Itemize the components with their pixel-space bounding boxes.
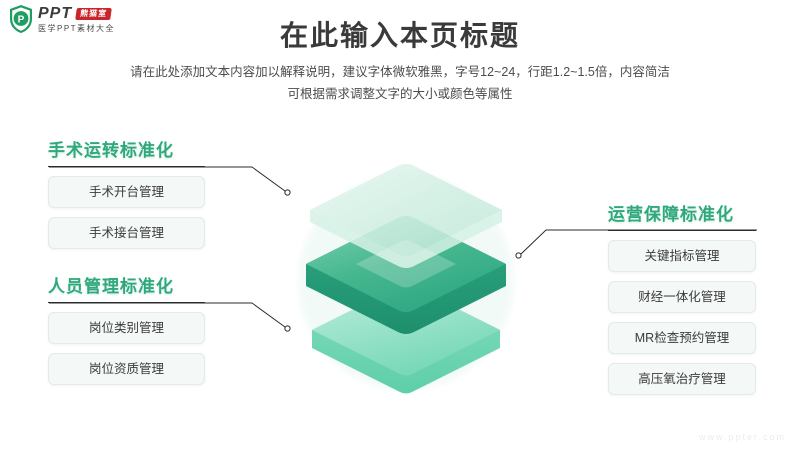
page-subtitle: 请在此处添加文本内容加以解释说明，建议字体微软雅黑，字号12~24，行距1.2~… — [0, 62, 800, 106]
subtitle-line-2: 可根据需求调整文字的大小或颜色等属性 — [0, 84, 800, 106]
group-heading: 手术运转标准化 — [48, 136, 205, 161]
chip-item[interactable]: 高压氧治疗管理 — [608, 363, 756, 395]
group-operations: 运营保障标准化 关键指标管理 财经一体化管理 MR检查预约管理 高压氧治疗管理 — [608, 200, 756, 395]
chip-item[interactable]: 岗位类别管理 — [48, 312, 205, 344]
layered-stack-illustration — [296, 152, 526, 400]
slide-canvas: P PPT 熊猫室 医学PPT素材大全 在此输入本页标题 请在此处添加文本内容加… — [0, 0, 800, 450]
group-divider — [48, 166, 205, 167]
subtitle-line-1: 请在此处添加文本内容加以解释说明，建议字体微软雅黑，字号12~24，行距1.2~… — [0, 62, 800, 84]
page-title: 在此输入本页标题 — [0, 14, 800, 54]
chip-item[interactable]: 手术开台管理 — [48, 176, 205, 208]
group-divider — [48, 302, 205, 303]
chip-item[interactable]: 岗位资质管理 — [48, 353, 205, 385]
chip-item[interactable]: 手术接台管理 — [48, 217, 205, 249]
group-surgery: 手术运转标准化 手术开台管理 手术接台管理 — [48, 136, 205, 249]
chip-item[interactable]: 财经一体化管理 — [608, 281, 756, 313]
group-staff: 人员管理标准化 岗位类别管理 岗位资质管理 — [48, 272, 205, 385]
chip-item[interactable]: MR检查预约管理 — [608, 322, 756, 354]
chip-item[interactable]: 关键指标管理 — [608, 240, 756, 272]
group-divider — [608, 230, 756, 231]
group-heading: 人员管理标准化 — [48, 272, 205, 297]
watermark: www.ppter.com — [699, 432, 786, 442]
group-heading: 运营保障标准化 — [608, 200, 756, 225]
